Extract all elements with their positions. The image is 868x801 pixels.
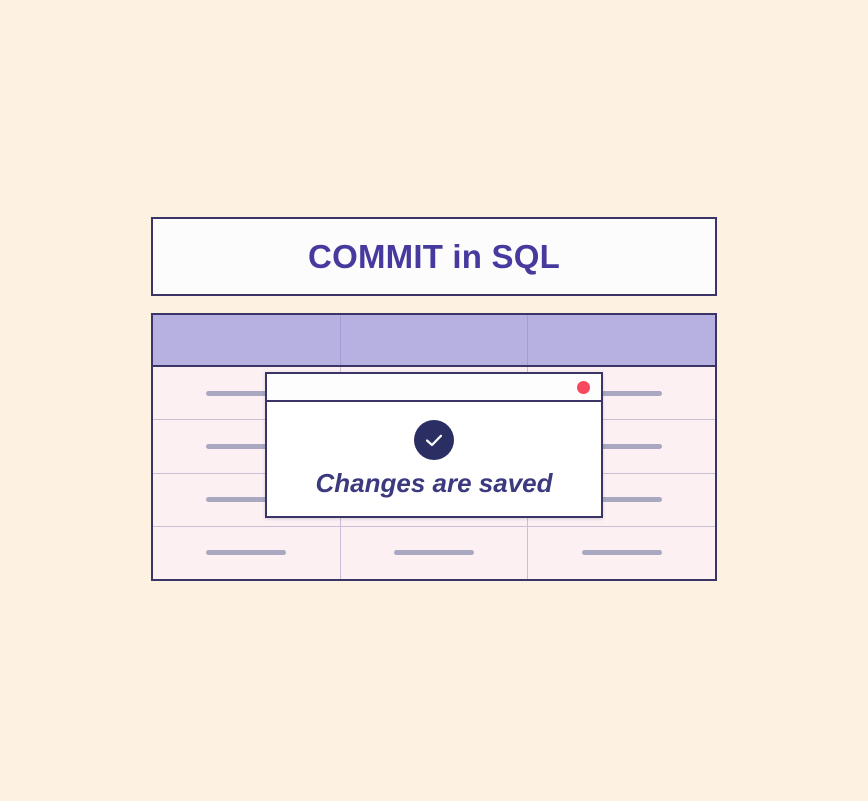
check-circle-icon	[414, 420, 454, 460]
dialog-body: Changes are saved	[267, 402, 601, 518]
confirmation-dialog: Changes are saved	[265, 372, 603, 518]
table-header-cell-2	[341, 315, 529, 365]
table-row	[153, 527, 715, 579]
placeholder-bar	[206, 550, 286, 555]
title-card: COMMIT in SQL	[151, 217, 717, 296]
table-cell	[528, 527, 715, 579]
commit-in-sql-illustration: COMMIT in SQL	[151, 217, 717, 581]
placeholder-bar	[582, 550, 662, 555]
close-icon[interactable]	[577, 381, 590, 394]
table-header-cell-3	[528, 315, 715, 365]
dialog-titlebar	[267, 374, 601, 402]
page-title: COMMIT in SQL	[308, 240, 560, 273]
dialog-message: Changes are saved	[315, 470, 552, 496]
table-header-cell-1	[153, 315, 341, 365]
table-header-row	[153, 315, 715, 367]
table-cell	[153, 527, 341, 579]
placeholder-bar	[394, 550, 474, 555]
table-cell	[341, 527, 529, 579]
